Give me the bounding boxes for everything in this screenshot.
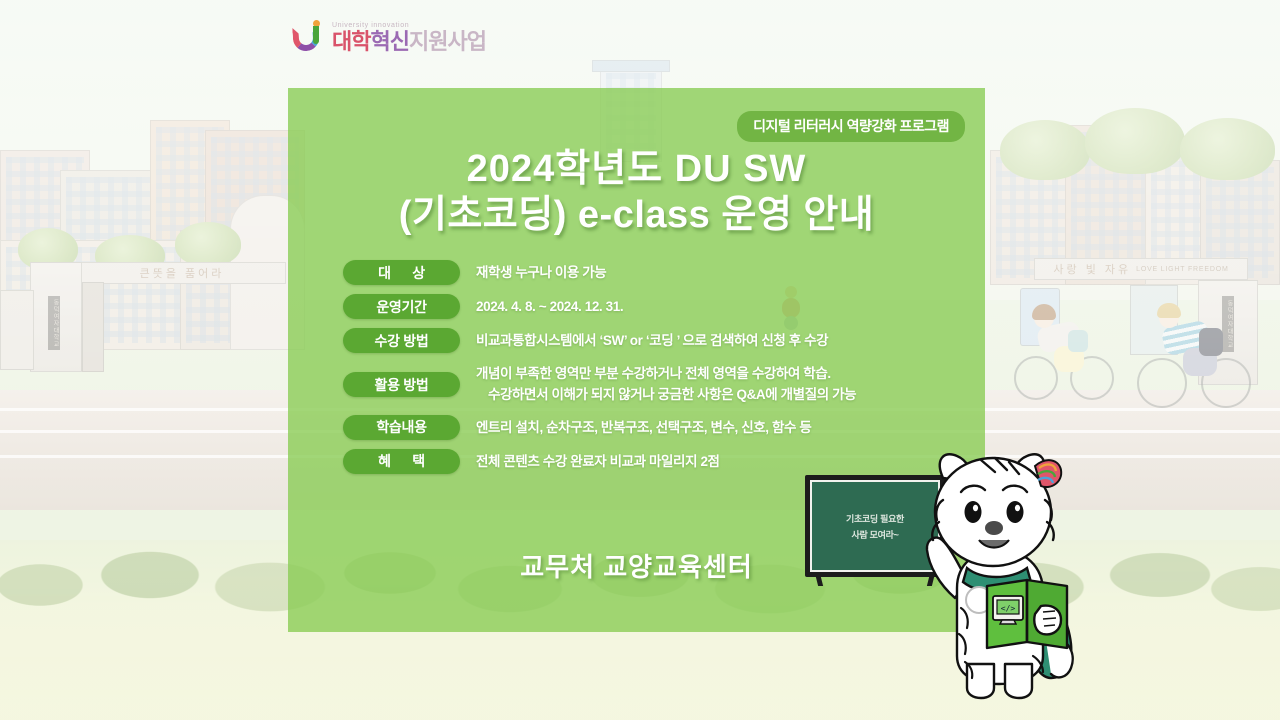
- tiger-mascot: </>: [895, 438, 1110, 720]
- backpack: [1068, 330, 1088, 352]
- university-innovation-logo: University innovation 대학혁신지원사업: [293, 17, 486, 53]
- rider-hair: [1157, 303, 1181, 318]
- gate-right-text: 사랑 빛 자유: [1053, 261, 1131, 277]
- page-title: 2024학년도 DU SW (기초코딩) e-class 운영 안내: [288, 146, 985, 239]
- logo-text-block: University innovation 대학혁신지원사업: [332, 22, 486, 53]
- info-row-label: 운영기간: [343, 294, 460, 319]
- tree: [1180, 118, 1275, 180]
- pillar-sign-left: 동덕여자대학교: [48, 296, 60, 350]
- info-row-label: 대 상: [343, 260, 460, 285]
- info-row-value: 2024. 4. 8. ~ 2024. 12. 31.: [476, 294, 965, 318]
- logo-korean-label: 대학혁신지원사업: [332, 31, 486, 53]
- gate-pillar-left-inner: [82, 282, 104, 372]
- logo-ko-part2: 혁신: [370, 29, 408, 54]
- info-row: 대 상 재학생 누구나 이용 가능: [343, 260, 965, 285]
- backpack: [1199, 328, 1223, 356]
- info-row-value-line1: 엔트리 설치, 순차구조, 반복구조, 선택구조, 변수, 신호, 함수 등: [476, 417, 965, 439]
- cyclist-right: [1135, 298, 1260, 416]
- gate-wall-left: [0, 290, 34, 370]
- info-row-label: 활용 방법: [343, 372, 460, 397]
- info-row: 학습내용 엔트리 설치, 순차구조, 반복구조, 선택구조, 변수, 신호, 함…: [343, 415, 965, 440]
- info-row-value: 비교과통합시스템에서 ‘SW’ or ‘코딩 ’ 으로 검색하여 신청 후 수강: [476, 328, 965, 352]
- cyclist-left: [1012, 300, 1122, 410]
- bicycle-wheel: [1137, 358, 1187, 408]
- info-row: 운영기간 2024. 4. 8. ~ 2024. 12. 31.: [343, 294, 965, 319]
- title-line-1: 2024학년도 DU SW: [288, 146, 985, 192]
- title-line-2: (기초코딩) e-class 운영 안내: [288, 192, 985, 238]
- uj-monogram-icon: [293, 17, 327, 53]
- gate-right-text-en: LOVE LIGHT FREEDOM: [1136, 266, 1228, 273]
- tree: [175, 222, 241, 266]
- info-row-value-line1: 비교과통합시스템에서 ‘SW’ or ‘코딩 ’ 으로 검색하여 신청 후 수강: [476, 330, 965, 352]
- gate-beam-right: 사랑 빛 자유 LOVE LIGHT FREEDOM: [1034, 258, 1248, 280]
- info-row: 활용 방법 개념이 부족한 영역만 부분 수강하거나 전체 영역을 수강하여 학…: [343, 362, 965, 406]
- info-row-value-line1: 2024. 4. 8. ~ 2024. 12. 31.: [476, 296, 965, 318]
- info-row-label: 학습내용: [343, 415, 460, 440]
- info-row-label: 혜 택: [343, 449, 460, 474]
- svg-text:</>: </>: [1001, 604, 1016, 613]
- info-row-value-line2: 수강하면서 이해가 되지 않거나 궁금한 사항은 Q&A에 개별질의 가능: [476, 385, 965, 406]
- info-row-value: 재학생 누구나 이용 가능: [476, 260, 965, 284]
- info-row-value-line1: 전체 콘텐츠 수강 완료자 비교과 마일리지 2점: [476, 451, 965, 473]
- building: [592, 60, 670, 72]
- tree: [1085, 108, 1185, 174]
- logo-english-label: University innovation: [332, 22, 486, 29]
- logo-ko-part1: 대학: [332, 29, 370, 54]
- info-rows: 대 상 재학생 누구나 이용 가능 운영기간 2024. 4. 8. ~ 202…: [343, 260, 965, 474]
- info-row-value: 전체 콘텐츠 수강 완료자 비교과 마일리지 2점: [476, 449, 965, 473]
- gate-beam-left: 큰뜻을 품어라: [78, 262, 286, 284]
- info-row: 수강 방법 비교과통합시스템에서 ‘SW’ or ‘코딩 ’ 으로 검색하여 신…: [343, 328, 965, 353]
- logo-ko-part3: 지원사업: [409, 29, 486, 54]
- program-badge: 디지털 리터러시 역량강화 프로그램: [737, 111, 965, 142]
- gate-left-text: 큰뜻을 품어라: [140, 265, 225, 281]
- info-row-label: 수강 방법: [343, 328, 460, 353]
- info-row-value: 엔트리 설치, 순차구조, 반복구조, 선택구조, 변수, 신호, 함수 등: [476, 415, 965, 439]
- tree: [1000, 120, 1090, 180]
- info-row-value-line1: 재학생 누구나 이용 가능: [476, 262, 965, 284]
- bicycle-wheel: [1014, 356, 1058, 400]
- info-row: 혜 택 전체 콘텐츠 수강 완료자 비교과 마일리지 2점: [343, 449, 965, 474]
- info-row-value-line1: 개념이 부족한 영역만 부분 수강하거나 전체 영역을 수강하여 학습.: [476, 364, 965, 385]
- rider-hair: [1032, 304, 1056, 320]
- info-row-value: 개념이 부족한 영역만 부분 수강하거나 전체 영역을 수강하여 학습. 수강하…: [476, 362, 965, 406]
- blackboard-line-2: 사람 모여라~: [851, 528, 898, 541]
